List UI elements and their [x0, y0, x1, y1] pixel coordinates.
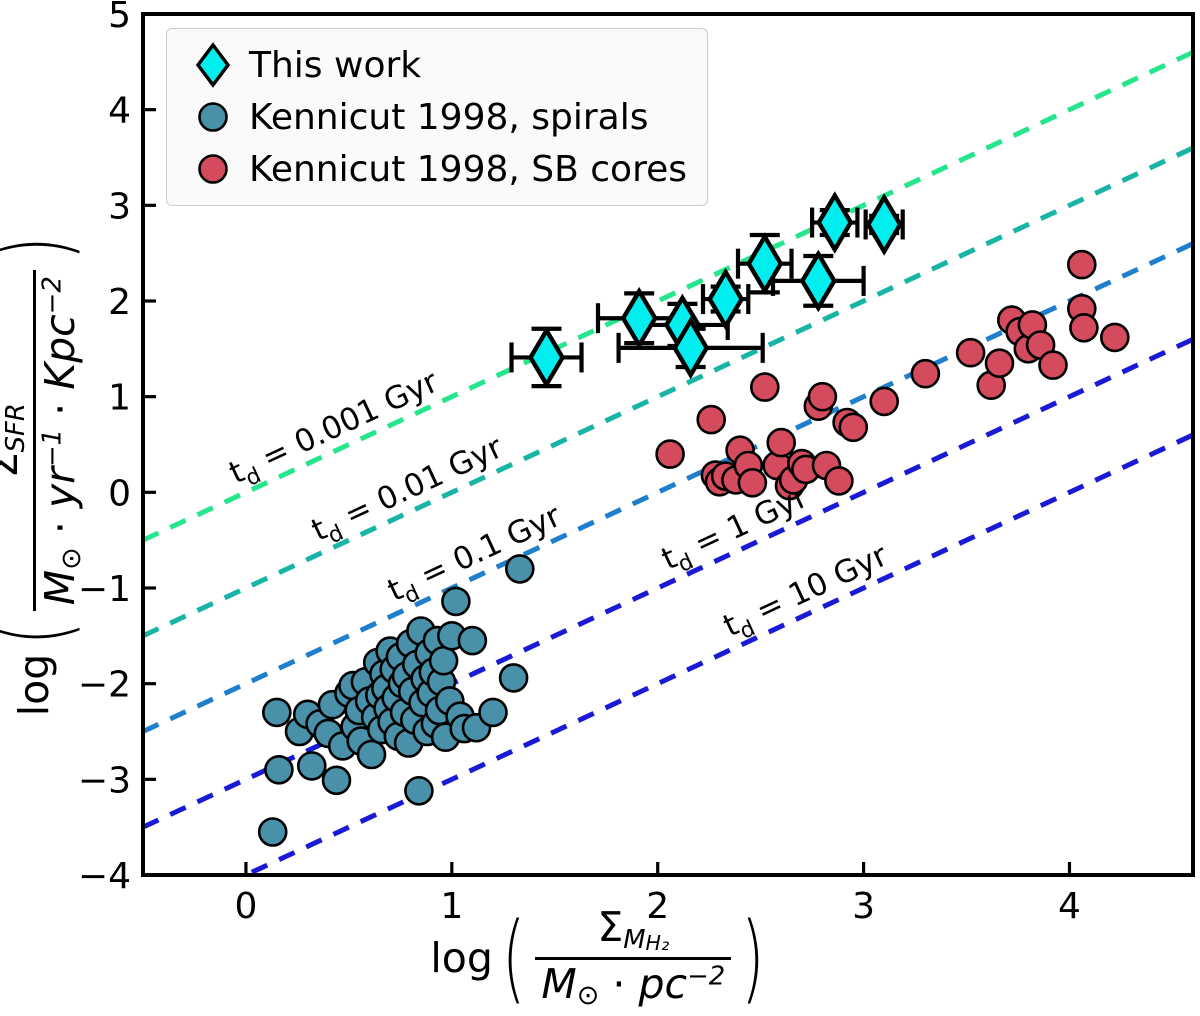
data-point: [657, 441, 684, 468]
data-point: [480, 699, 507, 726]
series-this-work: [531, 196, 901, 385]
data-point: [405, 777, 432, 804]
data-point: [802, 254, 834, 308]
data-point: [1101, 324, 1128, 351]
x-axis-numerator: ΣMH₂: [591, 905, 675, 957]
y-axis-paren-open: (: [0, 621, 71, 644]
data-point: [500, 664, 527, 691]
data-point: [430, 647, 457, 674]
data-point: [868, 197, 900, 251]
x-axis-denominator: M⊙ · pc−2: [535, 960, 731, 1010]
y-axis-paren-close: ): [0, 237, 71, 260]
x-axis-log-text: log: [430, 934, 493, 982]
data-point: [506, 555, 533, 582]
legend-item-2[interactable]: Kennicut 1998, SB cores: [181, 143, 687, 195]
data-point: [739, 469, 766, 496]
depletion-label-4: td = 10 Gyr: [718, 537, 896, 649]
legend-item-0[interactable]: This work: [181, 39, 687, 91]
depletion-line-4: [143, 435, 1193, 923]
data-point: [442, 588, 469, 615]
y-axis-log-text: log: [10, 654, 58, 717]
depletion-line-3: [143, 339, 1193, 827]
data-point: [323, 767, 350, 794]
y-tick-label: 3: [108, 186, 131, 227]
depletion-time-labels: td = 0.001 Gyrtd = 0.01 Gyrtd = 0.1 Gyrt…: [224, 364, 896, 650]
data-point: [986, 350, 1013, 377]
y-tick-label: −4: [78, 856, 131, 897]
data-point: [957, 339, 984, 366]
data-point: [1040, 352, 1067, 379]
x-axis-paren-open: (: [502, 921, 525, 996]
legend: This workKennicut 1998, spiralsKennicut …: [166, 28, 708, 206]
x-axis-paren-close: ): [741, 921, 764, 996]
data-point: [912, 360, 939, 387]
data-point: [1068, 251, 1095, 278]
depletion-label-2: td = 0.1 Gyr: [382, 498, 569, 615]
data-point: [825, 467, 852, 494]
data-point: [768, 429, 795, 456]
data-point: [358, 741, 385, 768]
data-point: [871, 388, 898, 415]
data-point: [459, 627, 486, 654]
data-point: [531, 330, 563, 384]
y-axis-numerator: ΣSFR: [0, 397, 33, 484]
y-tick-label: 4: [108, 91, 131, 132]
y-tick-label: 1: [108, 378, 131, 419]
x-axis-title: log ( ΣMH₂ M⊙ · pc−2 ): [250, 908, 950, 1008]
data-point: [623, 291, 655, 345]
y-tick-label: −3: [78, 760, 131, 801]
data-point: [265, 756, 292, 783]
x-tick-label: 4: [1058, 886, 1081, 927]
y-tick-label: 2: [108, 282, 131, 323]
data-point: [840, 414, 867, 441]
circle-marker-icon: [181, 146, 245, 192]
y-axis-denominator: M⊙ · yr−1 · Kpc−2: [36, 270, 86, 611]
data-point: [298, 752, 325, 779]
legend-item-label: Kennicut 1998, SB cores: [245, 149, 687, 190]
figure-canvas: td = 0.001 Gyrtd = 0.01 Gyrtd = 0.1 Gyrt…: [0, 0, 1200, 1016]
legend-item-label: This work: [245, 45, 421, 86]
y-tick-label: 0: [108, 473, 131, 514]
y-tick-label: 5: [108, 0, 131, 36]
data-point: [1070, 314, 1097, 341]
legend-item-label: Kennicut 1998, spirals: [245, 97, 649, 138]
data-point: [698, 406, 725, 433]
data-point: [259, 819, 286, 846]
legend-item-1[interactable]: Kennicut 1998, spirals: [181, 91, 687, 143]
data-point: [809, 383, 836, 410]
data-point: [819, 196, 851, 250]
diamond-marker-icon: [181, 42, 245, 88]
y-axis-title: log ( ΣSFR M⊙ · yr−1 · Kpc−2 ): [0, 124, 74, 824]
circle-marker-icon: [181, 94, 245, 140]
data-point: [710, 272, 742, 326]
data-point: [751, 374, 778, 401]
data-point: [263, 699, 290, 726]
